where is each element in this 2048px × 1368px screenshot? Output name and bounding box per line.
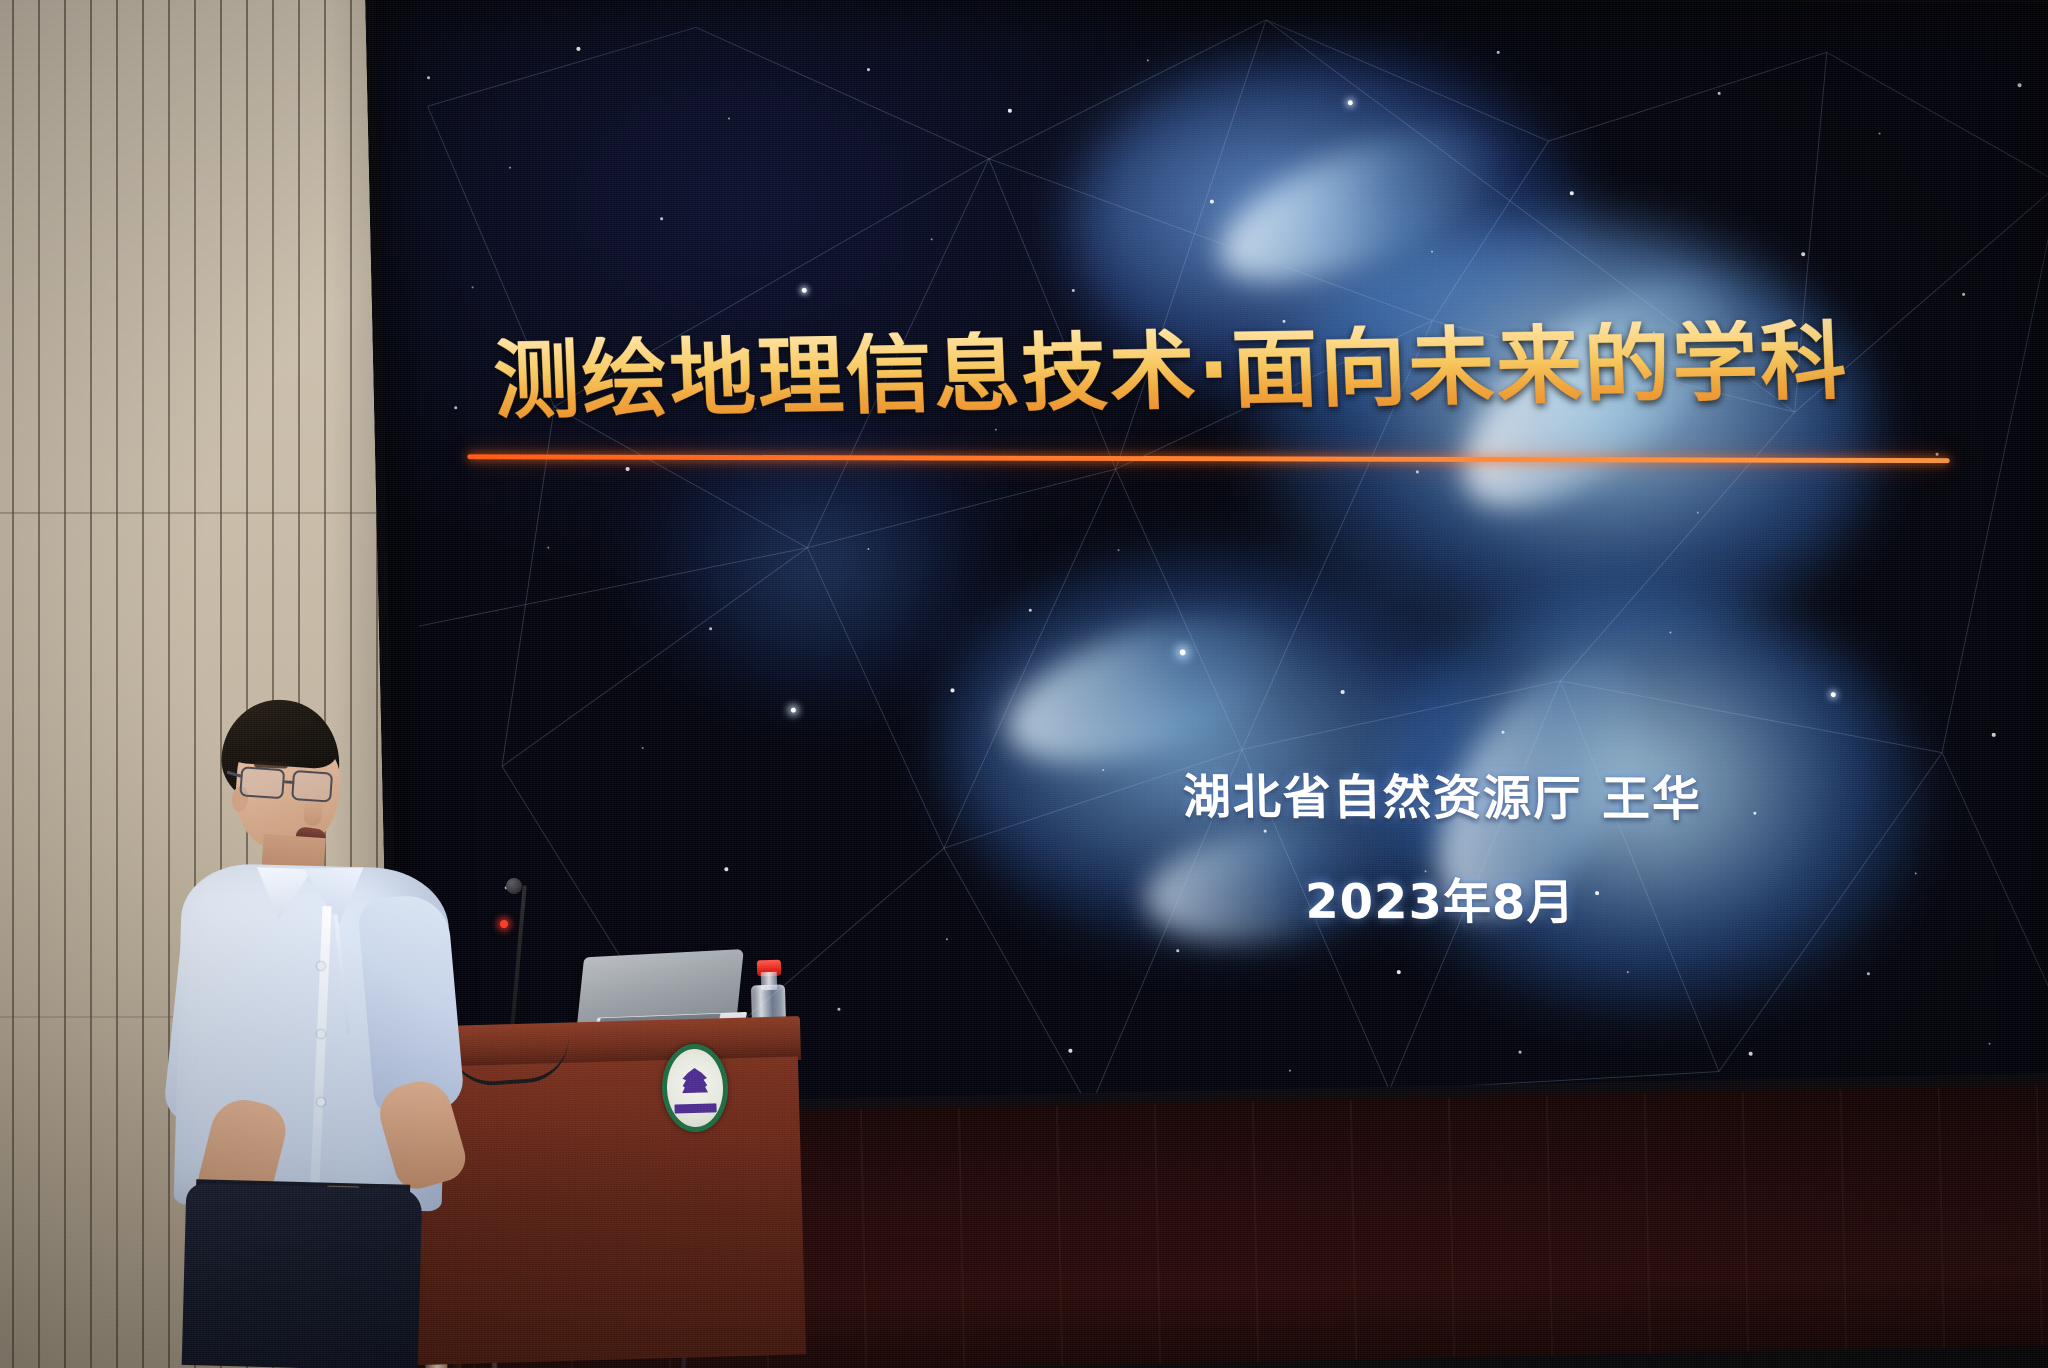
eyeglasses-right-lens — [291, 770, 333, 803]
eyeglasses-left-lens — [239, 766, 285, 799]
eyeglasses-bridge — [284, 780, 294, 783]
presenter-trousers — [182, 1183, 423, 1368]
slide-date: 2023年8月 — [1304, 862, 1576, 933]
microphone-indicator-light — [500, 920, 508, 928]
university-crest-icon — [661, 1043, 729, 1133]
presenter — [170, 700, 470, 1368]
shirt-button — [317, 962, 325, 970]
slide-title: 测绘地理信息技术·面向未来的学科 — [492, 317, 1945, 424]
shirt-button — [317, 1098, 325, 1106]
crest-base-bar — [674, 1103, 716, 1113]
presentation-photo: 测绘地理信息技术·面向未来的学科 湖北省自然资源厅 王华 2023年8月 — [0, 0, 2048, 1368]
microphone-head — [506, 878, 522, 894]
shirt-button — [317, 1030, 325, 1038]
slide-author: 湖北省自然资源厅 王华 — [1182, 757, 1702, 829]
